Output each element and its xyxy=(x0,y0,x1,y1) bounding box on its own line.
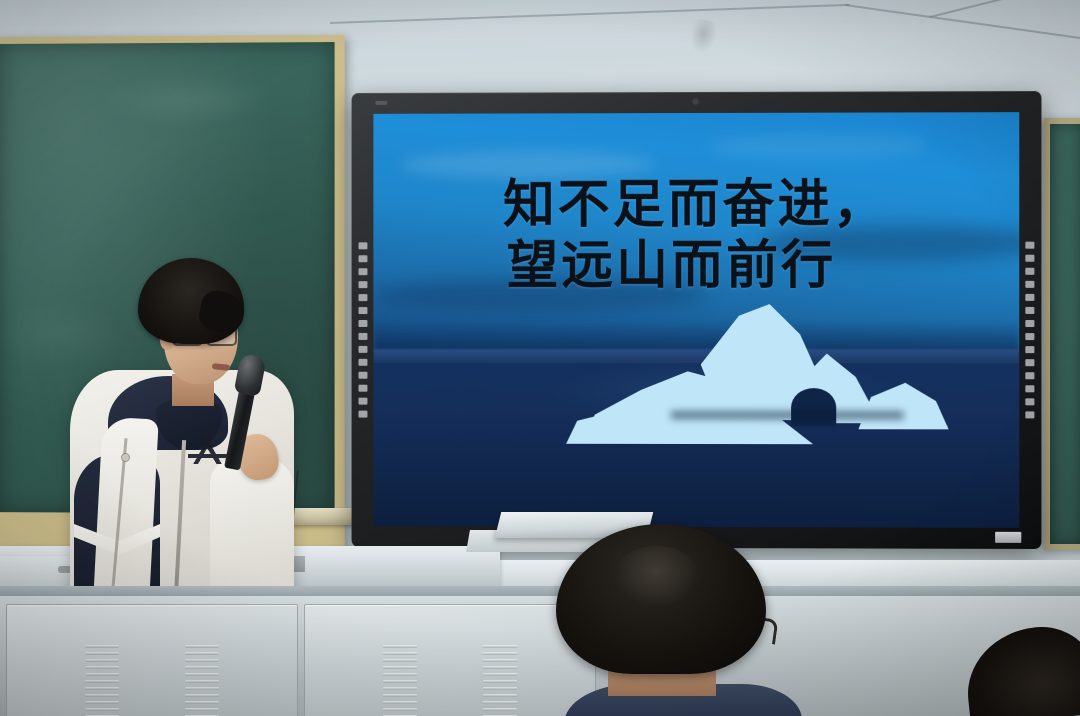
speaker-grille-right xyxy=(1025,242,1034,419)
cabinet-row xyxy=(0,596,1080,716)
green-chalkboard-partial xyxy=(1044,118,1080,550)
power-led-icon xyxy=(375,101,387,105)
speaker-grille-left xyxy=(359,242,368,417)
ceiling xyxy=(0,0,1080,40)
ventilation-louvers xyxy=(185,645,219,716)
cabinet-door-left[interactable] xyxy=(6,604,298,716)
interactive-smart-board[interactable]: 知不足而奋进， 望远山而前行 xyxy=(352,91,1042,549)
jacket-snap-button xyxy=(122,454,129,461)
display-screen[interactable]: 知不足而奋进， 望远山而前行 xyxy=(373,112,1019,528)
ventilation-louvers xyxy=(483,645,517,716)
presenter xyxy=(60,258,320,598)
iceberg-shadow xyxy=(671,411,904,419)
brand-label xyxy=(995,532,1021,543)
classroom-photo: 知不足而奋进， 望远山而前行 xyxy=(0,0,1080,716)
cabinet-door-right[interactable] xyxy=(304,604,596,716)
hair xyxy=(138,258,244,344)
cloud xyxy=(708,133,928,158)
iceberg-arch xyxy=(791,388,836,427)
presentation-slide: 知不足而奋进， 望远山而前行 xyxy=(373,112,1019,528)
chalkboard-surface-partial xyxy=(1050,124,1080,544)
iceberg xyxy=(566,295,941,445)
ventilation-louvers xyxy=(383,645,417,716)
ventilation-louvers xyxy=(85,645,119,716)
audience-hair xyxy=(556,524,766,674)
audience-member-front xyxy=(556,524,802,716)
iceberg-face xyxy=(858,379,948,430)
camera-icon xyxy=(693,99,698,104)
